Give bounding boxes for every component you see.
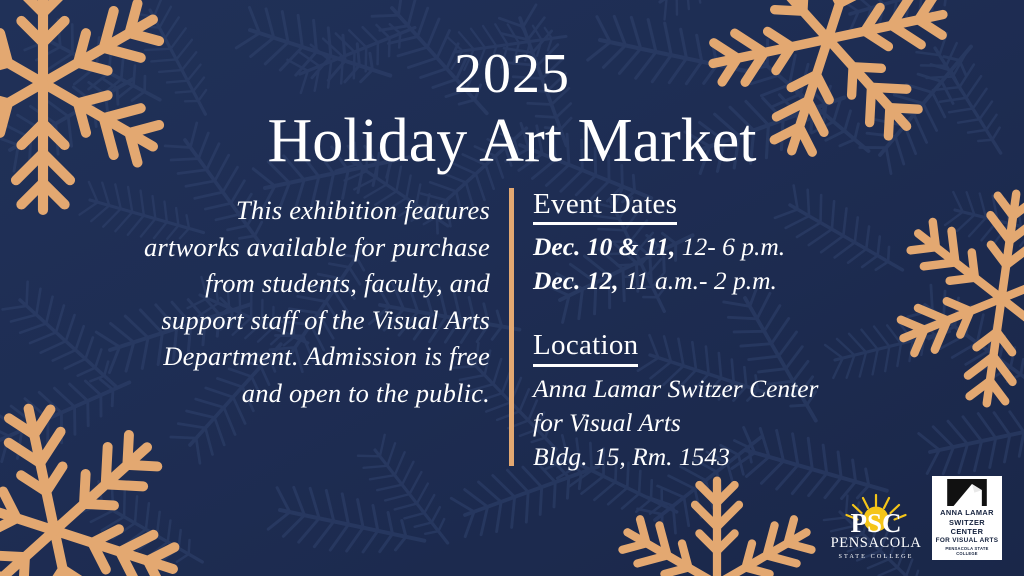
page-title: Holiday Art Market — [0, 108, 1024, 175]
location-block: Location Anna Lamar Switzer Center for V… — [533, 329, 913, 475]
svg-text:PSC: PSC — [850, 508, 901, 535]
switzer-building-icon — [935, 479, 999, 506]
exhibition-description: This exhibition features artworks availa… — [140, 192, 490, 411]
switzer-line-3: FOR VISUAL ARTS — [935, 537, 999, 545]
switzer-wordmark: ANNA LAMAR SWITZER CENTER FOR VISUAL ART… — [935, 506, 999, 557]
psc-sun-icon: PSC — [834, 491, 918, 535]
event-info-column: Event Dates Dec. 10 & 11, 12- 6 p.m. Dec… — [533, 188, 913, 475]
location-line-3: Bldg. 15, Rm. 1543 — [533, 440, 913, 474]
location-line-1: Anna Lamar Switzer Center — [533, 372, 913, 406]
event-date-row: Dec. 12, 11 a.m.- 2 p.m. — [533, 264, 913, 298]
event-date-1: Dec. 10 & 11, — [533, 232, 675, 261]
gold-vertical-divider — [509, 188, 514, 466]
poster-content: 2025 Holiday Art Market This exhibition … — [0, 0, 1024, 576]
event-dates-block: Event Dates Dec. 10 & 11, 12- 6 p.m. Dec… — [533, 188, 913, 298]
poster-year: 2025 — [0, 46, 1024, 102]
pensacola-state-college-logo: PSC PENSACOLA STATE COLLEGE — [834, 491, 918, 560]
event-time-1: 12- 6 p.m. — [682, 232, 785, 261]
psc-subtitle: STATE COLLEGE — [838, 554, 913, 560]
title-block: 2025 Holiday Art Market — [0, 46, 1024, 175]
switzer-line-2: SWITZER CENTER — [935, 518, 999, 537]
event-date-2: Dec. 12, — [533, 266, 619, 295]
logo-group: PSC PENSACOLA STATE COLLEGE ANNA LAMAR S… — [834, 476, 1002, 560]
anna-lamar-switzer-center-logo: ANNA LAMAR SWITZER CENTER FOR VISUAL ART… — [932, 476, 1002, 560]
switzer-line-1: ANNA LAMAR — [935, 508, 999, 517]
location-heading: Location — [533, 329, 638, 366]
event-date-row: Dec. 10 & 11, 12- 6 p.m. — [533, 230, 913, 264]
switzer-line-4: PENSACOLA STATE COLLEGE — [935, 546, 999, 557]
event-dates-heading: Event Dates — [533, 188, 677, 225]
psc-wordmark: PENSACOLA — [831, 536, 922, 551]
location-line-2: for Visual Arts — [533, 406, 913, 440]
event-time-2: 11 a.m.- 2 p.m. — [625, 266, 777, 295]
holiday-art-market-poster: 2025 Holiday Art Market This exhibition … — [0, 0, 1024, 576]
